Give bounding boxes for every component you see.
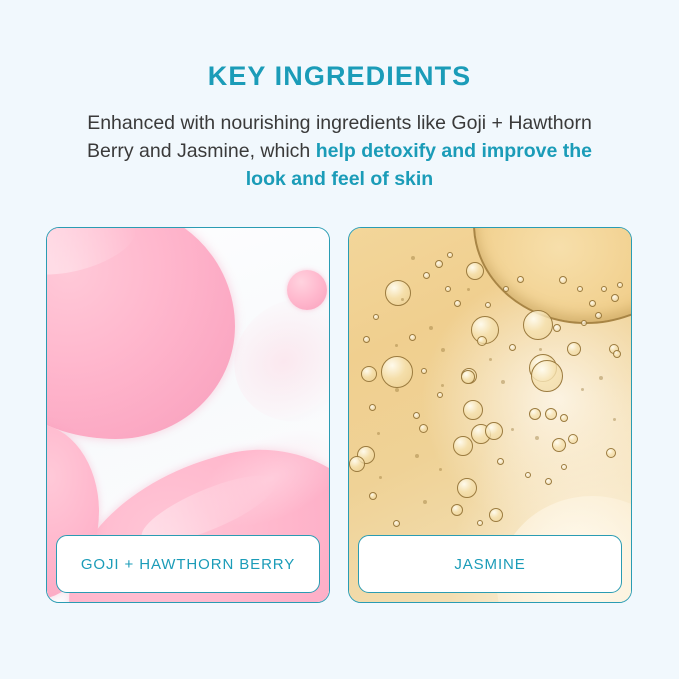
golden-bubble (589, 300, 596, 307)
golden-bubble (567, 342, 581, 356)
golden-bubble (461, 370, 475, 384)
golden-bubble (561, 464, 567, 470)
golden-speck (429, 326, 433, 330)
golden-speck (379, 476, 382, 479)
golden-bubble (423, 272, 430, 279)
golden-bubble (437, 392, 443, 398)
golden-bubble (454, 300, 461, 307)
golden-bubble (385, 280, 411, 306)
golden-bubble (466, 262, 484, 280)
golden-bubble (413, 412, 420, 419)
golden-bubble (363, 336, 370, 343)
golden-speck (415, 454, 419, 458)
card-label-goji-hawthorn-berry: GOJI + HAWTHORN BERRY (56, 535, 320, 593)
golden-bubble (445, 286, 451, 292)
header: KEY INGREDIENTS Enhanced with nourishing… (0, 0, 679, 193)
golden-speck (613, 418, 616, 421)
golden-bubble (381, 356, 413, 388)
ingredient-cards: GOJI + HAWTHORN BERRY (46, 227, 632, 603)
golden-speck (501, 380, 505, 384)
golden-bubble (503, 286, 509, 292)
golden-bubble (489, 508, 503, 522)
golden-bubble (606, 448, 616, 458)
golden-bubble (369, 404, 376, 411)
golden-bubble (577, 286, 583, 292)
ingredient-card-jasmine[interactable]: JASMINE (348, 227, 632, 603)
golden-bubble (477, 336, 487, 346)
golden-bubble (485, 302, 491, 308)
golden-bubble (611, 294, 619, 302)
subtitle: Enhanced with nourishing ingredients lik… (70, 109, 610, 194)
golden-speck (401, 298, 404, 301)
golden-speck (377, 432, 380, 435)
golden-bubble (497, 458, 504, 465)
golden-speck (441, 348, 445, 352)
golden-bubble (613, 350, 621, 358)
golden-bubble (531, 360, 563, 392)
golden-bubble (463, 400, 483, 420)
golden-bubble (457, 478, 477, 498)
golden-bubble (545, 408, 557, 420)
golden-bubble (349, 456, 365, 472)
golden-bubble (581, 320, 587, 326)
golden-bubble (517, 276, 524, 283)
golden-speck (411, 256, 415, 260)
golden-bubble (435, 260, 443, 268)
golden-speck (511, 428, 514, 431)
ingredient-card-goji-hawthorn-berry[interactable]: GOJI + HAWTHORN BERRY (46, 227, 330, 603)
golden-bubble (421, 368, 427, 374)
golden-bubble (617, 282, 623, 288)
golden-speck (441, 384, 444, 387)
golden-bubble (523, 310, 553, 340)
golden-bubble (552, 438, 566, 452)
golden-bubble (373, 314, 379, 320)
pink-droplet-small (287, 270, 327, 310)
card-label-text: JASMINE (454, 556, 525, 573)
golden-bubble (601, 286, 607, 292)
golden-speck (535, 436, 539, 440)
golden-bubble (545, 478, 552, 485)
golden-speck (439, 468, 442, 471)
golden-bubble (560, 414, 568, 422)
golden-bubble (419, 424, 428, 433)
card-label-text: GOJI + HAWTHORN BERRY (81, 556, 295, 573)
golden-bubble (451, 504, 463, 516)
golden-bubble (529, 408, 541, 420)
golden-speck (489, 358, 492, 361)
golden-bubble (595, 312, 602, 319)
golden-bubble (485, 422, 503, 440)
golden-bubble (409, 334, 416, 341)
golden-bubble (525, 472, 531, 478)
golden-speck (423, 500, 427, 504)
golden-bubble (369, 492, 377, 500)
golden-bubble (453, 436, 473, 456)
golden-bubble (477, 520, 483, 526)
card-label-jasmine: JASMINE (358, 535, 622, 593)
golden-speck (395, 344, 398, 347)
golden-bubble (553, 324, 561, 332)
key-ingredients-panel: KEY INGREDIENTS Enhanced with nourishing… (0, 0, 679, 679)
golden-bubble (393, 520, 400, 527)
golden-bubble (559, 276, 567, 284)
golden-bubble (361, 366, 377, 382)
golden-speck (581, 388, 584, 391)
golden-speck (539, 348, 542, 351)
page-title: KEY INGREDIENTS (0, 62, 679, 92)
golden-bubble (509, 344, 516, 351)
golden-bubble (447, 252, 453, 258)
golden-speck (467, 288, 470, 291)
golden-speck (599, 376, 603, 380)
golden-bubble (568, 434, 578, 444)
golden-speck (395, 388, 399, 392)
